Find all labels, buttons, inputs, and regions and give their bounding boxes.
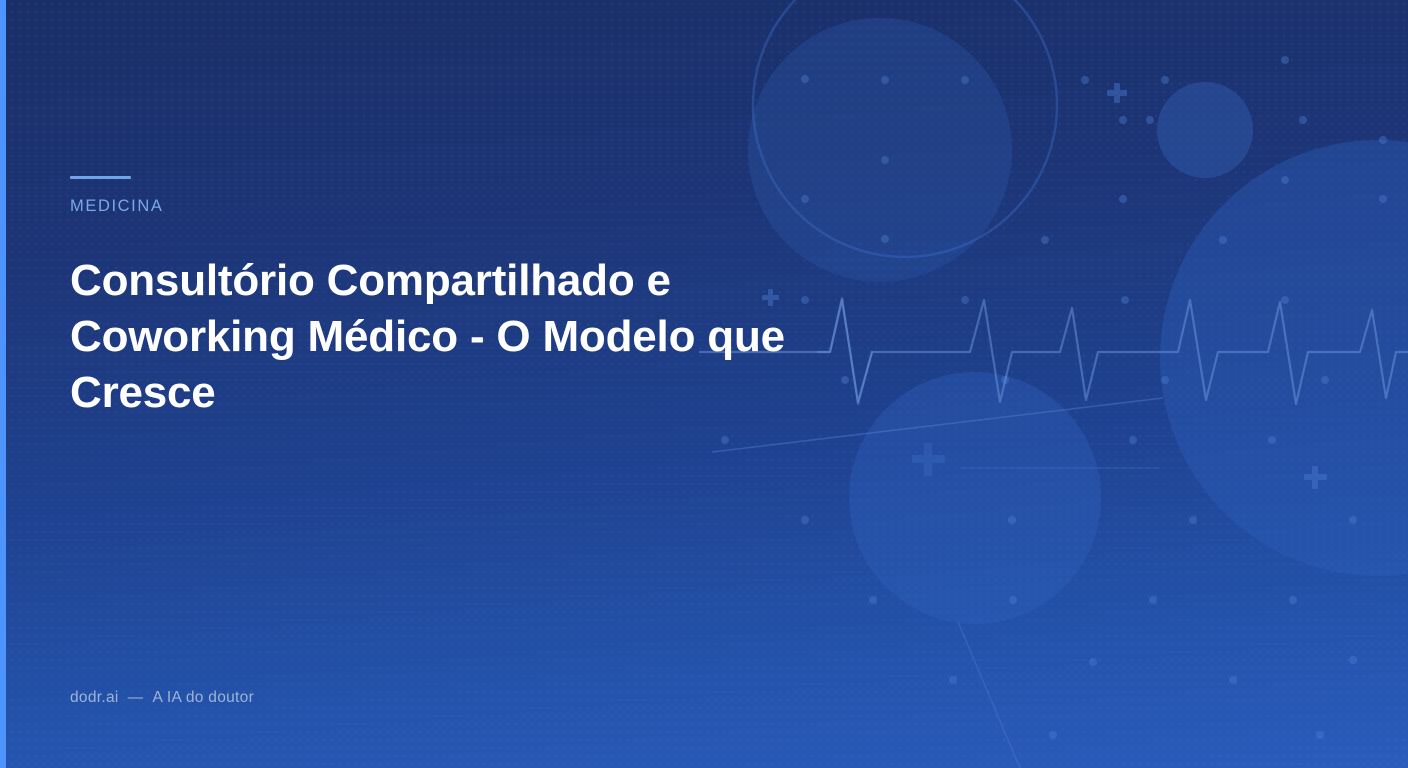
plus-top-right-icon xyxy=(1107,83,1127,103)
footer-brand: dodr.ai xyxy=(70,689,119,706)
plus-bottom-right-icon xyxy=(1304,466,1327,489)
footer-credit: dodr.ai—A IA do doutor xyxy=(70,690,254,706)
footer-separator: — xyxy=(119,689,153,706)
circle-large-right-icon xyxy=(1160,140,1408,576)
slide-canvas: MEDICINA Consultório Compartilhado e Cow… xyxy=(0,0,1408,768)
page-title: Consultório Compartilhado e Coworking Mé… xyxy=(70,253,830,421)
circle-small-top-right-icon xyxy=(1157,82,1253,178)
kicker-accent-rule xyxy=(70,176,131,179)
footer-tagline: A IA do doutor xyxy=(152,689,254,706)
slide-content: MEDICINA Consultório Compartilhado e Cow… xyxy=(70,0,890,768)
category-kicker: MEDICINA xyxy=(70,198,163,215)
left-edge-accent-bar xyxy=(0,0,6,768)
diagonal-lower-icon xyxy=(958,622,1020,768)
plus-center-icon xyxy=(912,443,945,476)
